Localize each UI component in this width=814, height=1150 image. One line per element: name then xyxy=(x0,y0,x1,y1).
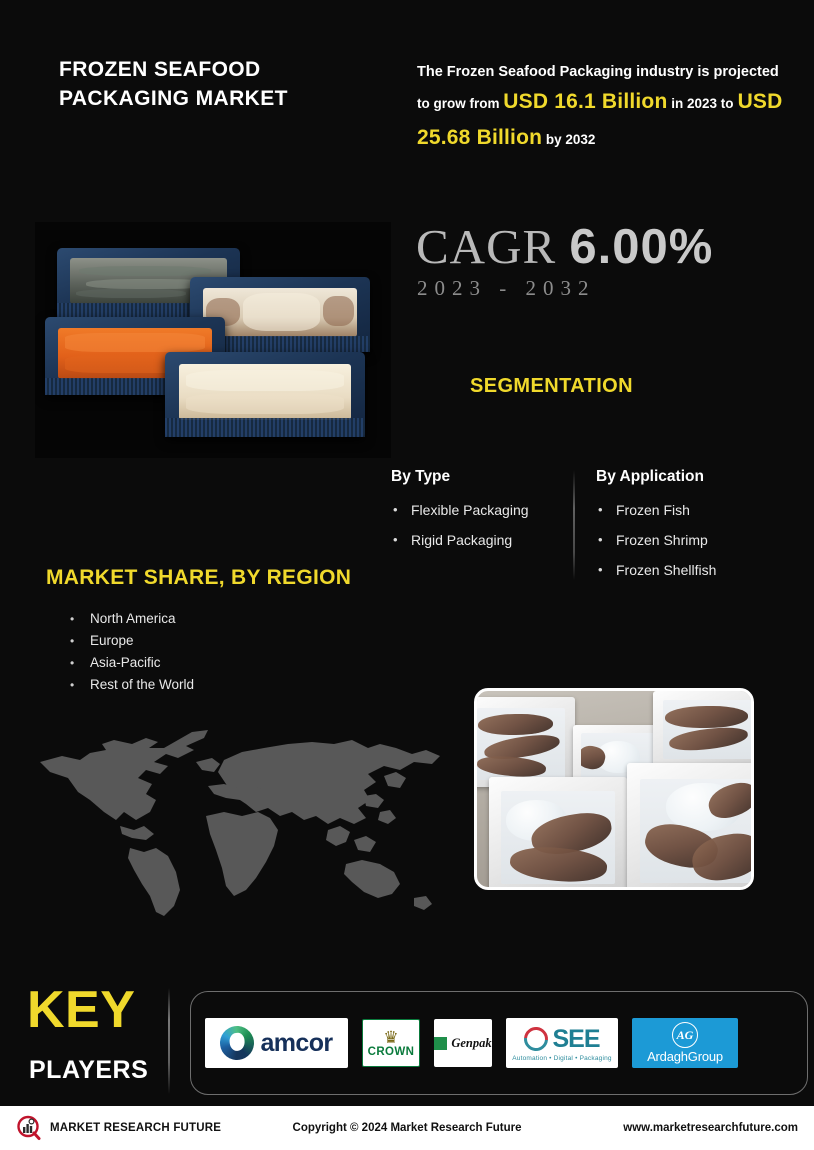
intro-line-3-post: by 2032 xyxy=(542,132,595,147)
intro-line-2-mid: in 2023 to xyxy=(668,96,734,111)
logo-amcor[interactable]: amcor xyxy=(205,1018,348,1068)
market-value-2023: USD 16.1 Billion xyxy=(503,90,667,113)
list-item: Frozen Fish xyxy=(596,495,786,525)
amcor-wordmark: amcor xyxy=(260,1029,332,1058)
genpak-wordmark: Genpak xyxy=(451,1036,491,1051)
see-tagline: Automation • Digital • Packaging xyxy=(512,1055,611,1062)
logo-see[interactable]: SEE Automation • Digital • Packaging xyxy=(506,1018,618,1068)
logo-ardagh-group[interactable]: AG ArdaghGroup xyxy=(632,1018,738,1068)
intro-text: The Frozen Seafood Packaging industry is… xyxy=(417,60,787,155)
styrofoam-box xyxy=(474,697,575,787)
cagr-value: 6.00% xyxy=(569,220,713,274)
crown-wordmark: CROWN xyxy=(368,1046,415,1058)
list-item: Rest of the World xyxy=(68,674,194,696)
tray-contents-squid xyxy=(203,288,358,338)
infographic-page: FROZEN SEAFOOD PACKAGING MARKET The Froz… xyxy=(0,0,814,1150)
box-contents xyxy=(640,779,754,883)
intro-line-1: The Frozen Seafood Packaging industry is… xyxy=(417,64,779,80)
by-application-list: Frozen Fish Frozen Shrimp Frozen Shellfi… xyxy=(596,495,786,585)
list-item: North America xyxy=(68,608,194,630)
box-contents xyxy=(501,791,614,884)
intro-line-2-pre: to grow from xyxy=(417,96,503,111)
logo-crown[interactable]: ♛ CROWN xyxy=(362,1019,420,1067)
tray-rim xyxy=(165,418,365,437)
footer-brand[interactable]: MARKET RESEARCH FUTURE xyxy=(16,1115,286,1141)
key-players-logo-box: amcor ♛ CROWN Genpak SEE Automation • Di… xyxy=(190,991,808,1095)
market-share-title: MARKET SHARE, BY REGION xyxy=(46,566,351,590)
see-wordmark: SEE xyxy=(552,1025,599,1054)
amcor-swirl-icon xyxy=(216,1022,259,1065)
ardagh-monogram-icon: AG xyxy=(672,1022,698,1048)
segment-by-application: By Application Frozen Fish Frozen Shrimp… xyxy=(596,468,786,585)
segment-by-type: By Type Flexible Packaging Rigid Packagi… xyxy=(391,468,566,555)
ardagh-wordmark: ArdaghGroup xyxy=(647,1049,723,1064)
see-ring-icon xyxy=(520,1022,554,1056)
footer-brand-name: MARKET RESEARCH FUTURE xyxy=(50,1122,221,1134)
styrofoam-box xyxy=(627,763,754,890)
box-contents xyxy=(663,700,754,759)
tray-scallops xyxy=(165,352,365,437)
fish-in-ice-boxes-photo xyxy=(474,688,754,890)
page-title: FROZEN SEAFOOD PACKAGING MARKET xyxy=(59,56,389,114)
world-map-icon xyxy=(28,700,460,940)
list-item: Asia-Pacific xyxy=(68,652,194,674)
cagr-period: 2023 - 2032 xyxy=(417,276,596,301)
logo-genpak[interactable]: Genpak xyxy=(434,1019,492,1067)
by-type-heading: By Type xyxy=(391,468,566,486)
see-logo-row: SEE xyxy=(524,1025,599,1054)
list-item: Rigid Packaging xyxy=(391,525,566,555)
list-item: Frozen Shellfish xyxy=(596,555,786,585)
list-item: Frozen Shrimp xyxy=(596,525,786,555)
by-application-heading: By Application xyxy=(596,468,786,486)
world-map xyxy=(28,700,460,940)
styrofoam-box xyxy=(653,691,754,765)
key-players-title-line1: KEY xyxy=(27,986,135,1035)
footer-copyright: Copyright © 2024 Market Research Future xyxy=(286,1122,528,1134)
key-players-title-line2: PLAYERS xyxy=(29,1056,148,1085)
list-item: Europe xyxy=(68,630,194,652)
key-players-divider xyxy=(168,988,170,1094)
market-research-future-logo-icon xyxy=(16,1115,42,1141)
frozen-seafood-trays-photo xyxy=(35,222,391,458)
box-contents xyxy=(477,708,566,780)
styrofoam-box xyxy=(489,777,627,890)
genpak-square-icon xyxy=(434,1037,447,1050)
cagr-headline: CAGR 6.00% xyxy=(416,218,713,275)
cagr-label: CAGR xyxy=(416,219,569,274)
segmentation-title: SEGMENTATION xyxy=(470,375,633,398)
region-list: North America Europe Asia-Pacific Rest o… xyxy=(68,608,194,696)
list-item: Flexible Packaging xyxy=(391,495,566,525)
crown-icon: ♛ xyxy=(383,1029,398,1046)
footer: MARKET RESEARCH FUTURE Copyright © 2024 … xyxy=(0,1106,814,1150)
footer-url[interactable]: www.marketresearchfuture.com xyxy=(528,1122,798,1134)
segmentation-divider xyxy=(573,470,575,580)
by-type-list: Flexible Packaging Rigid Packaging xyxy=(391,495,566,555)
tray-contents-scallops xyxy=(179,364,351,420)
